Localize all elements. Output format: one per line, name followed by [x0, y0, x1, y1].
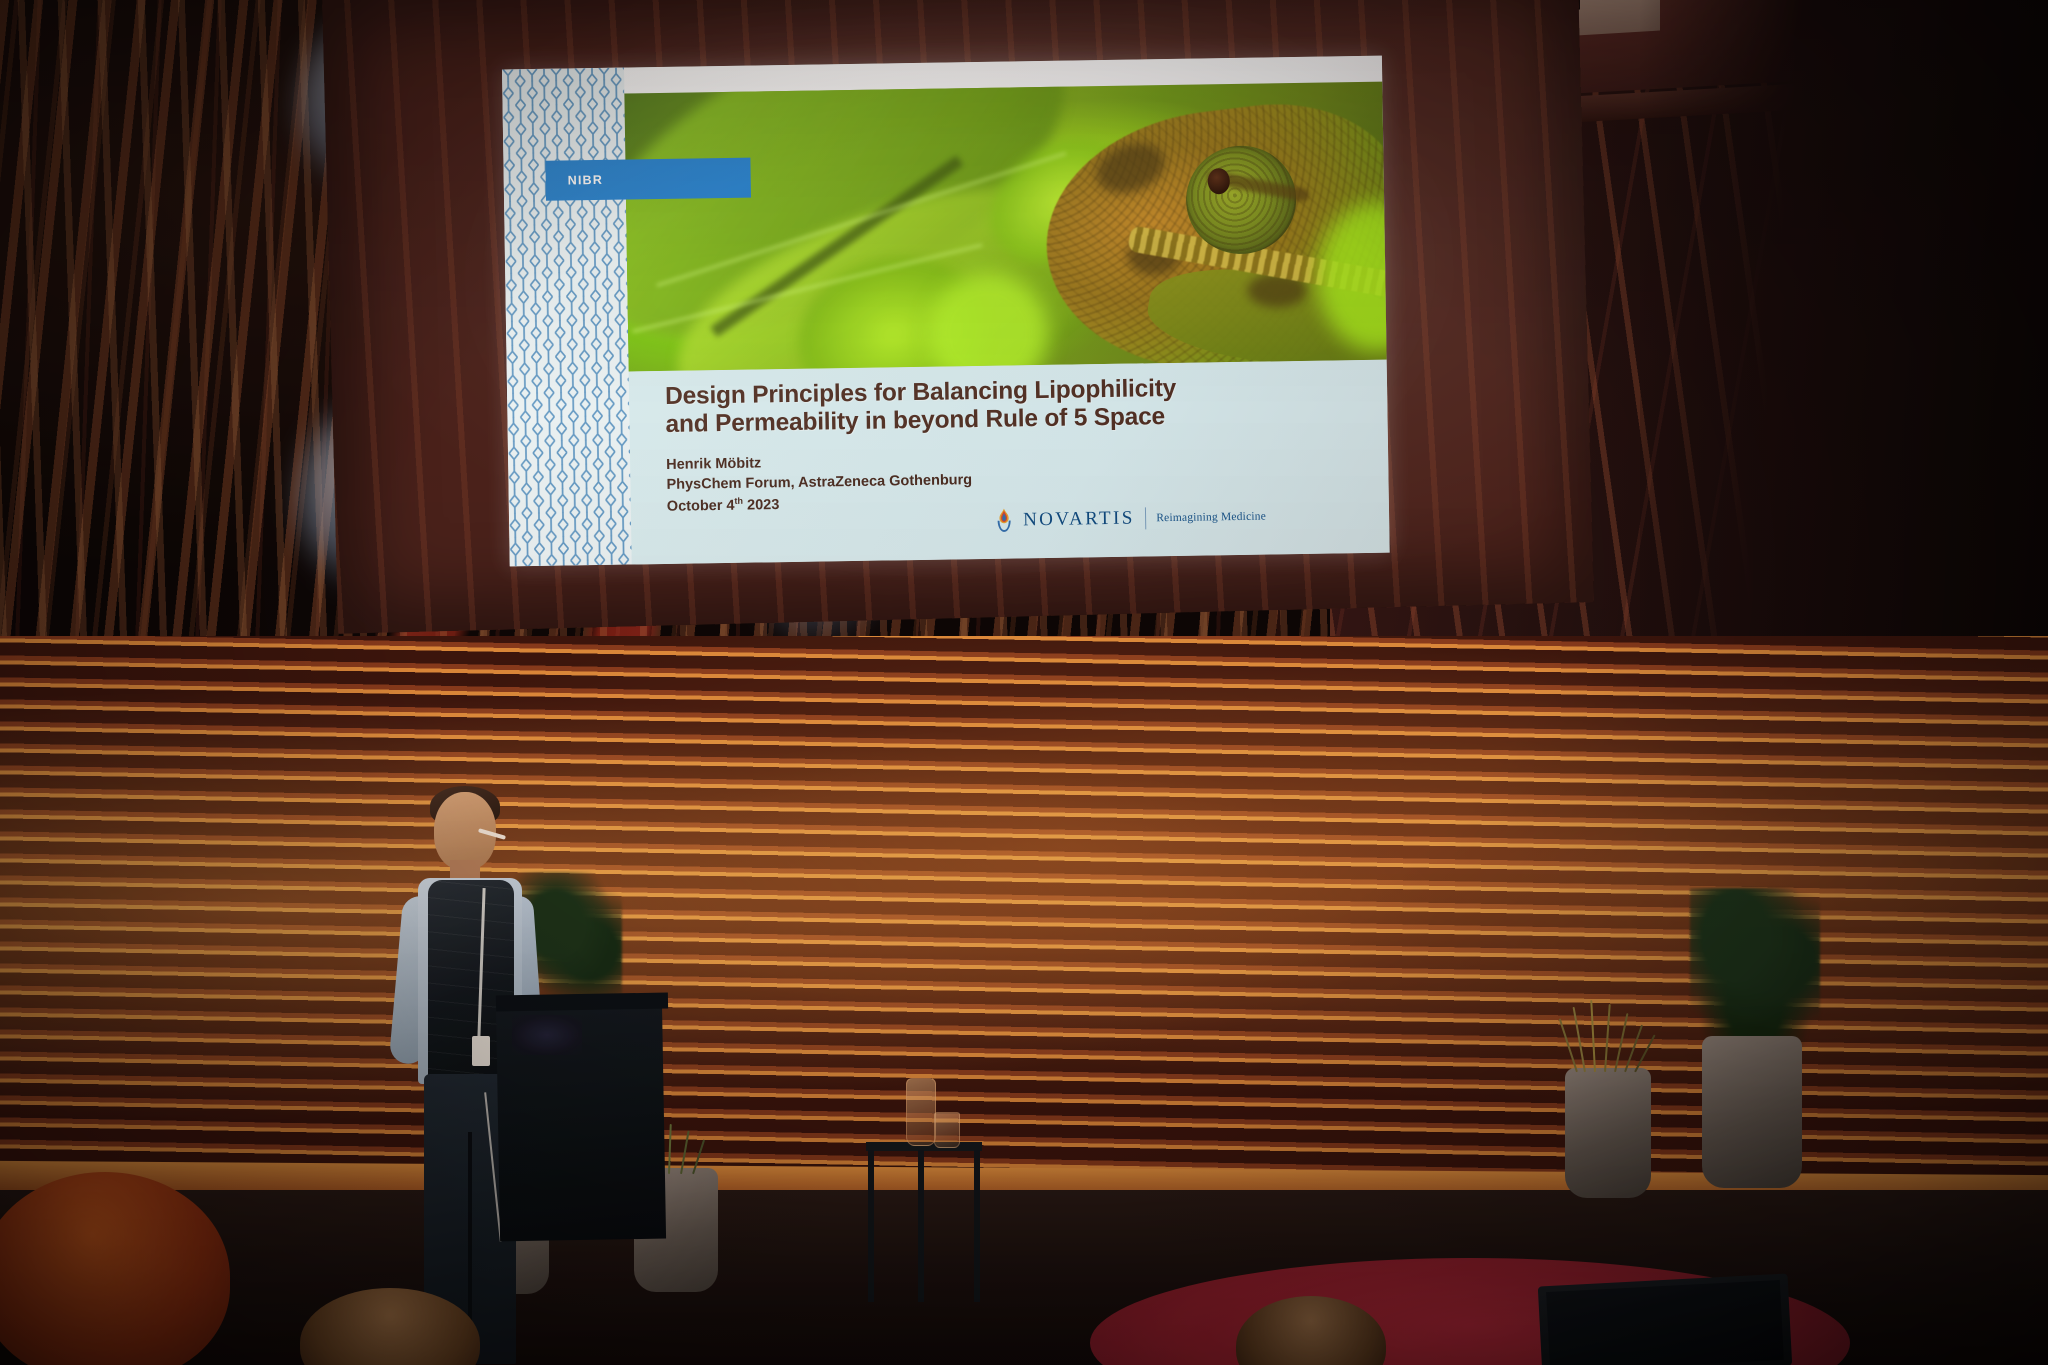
- slide-hero-image: [624, 82, 1386, 372]
- ficus-tree-foliage: [1690, 888, 1820, 1048]
- novartis-logo: NOVARTIS Reimagining Medicine: [995, 504, 1266, 534]
- ornamental-grass: [1572, 1000, 1648, 1072]
- lectern-top-surface: [496, 993, 668, 1012]
- side-table-leg: [974, 1150, 980, 1302]
- date-prefix: October 4: [667, 497, 735, 514]
- planter-pot: [1702, 1036, 1802, 1188]
- novartis-tagline: Reimagining Medicine: [1156, 511, 1266, 525]
- drinking-glass: [934, 1112, 960, 1148]
- lectern-monitor-glow: [512, 1015, 582, 1055]
- date-suffix: 2023: [743, 497, 780, 514]
- antibody-pattern-icon: [502, 68, 632, 567]
- laptop: [1538, 1274, 1792, 1365]
- presentation-slide: NIBR Design Principles for Balancing Lip…: [502, 56, 1390, 567]
- novartis-flame-icon: [995, 507, 1013, 533]
- water-carafe: [906, 1078, 936, 1146]
- side-table: [866, 1142, 982, 1302]
- novartis-wordmark: NOVARTIS: [1023, 508, 1135, 532]
- screenshot-root: NIBR Design Principles for Balancing Lip…: [0, 0, 2048, 1365]
- projection-screen: NIBR Design Principles for Balancing Lip…: [322, 0, 1594, 654]
- speaker-badge: [472, 1036, 490, 1066]
- chameleon-pupil: [1208, 168, 1230, 194]
- planter-pot: [1565, 1068, 1651, 1198]
- side-table-leg: [918, 1150, 924, 1302]
- logo-divider: [1145, 507, 1147, 529]
- nibr-badge-label: NIBR: [568, 173, 604, 188]
- side-table-leg: [868, 1150, 874, 1302]
- slide-title: Design Principles for Balancing Lipophil…: [665, 374, 1226, 440]
- laptop-screen: [1546, 1280, 1784, 1365]
- room-corner-shadow: [1640, 0, 2048, 640]
- nibr-badge: NIBR: [545, 158, 751, 201]
